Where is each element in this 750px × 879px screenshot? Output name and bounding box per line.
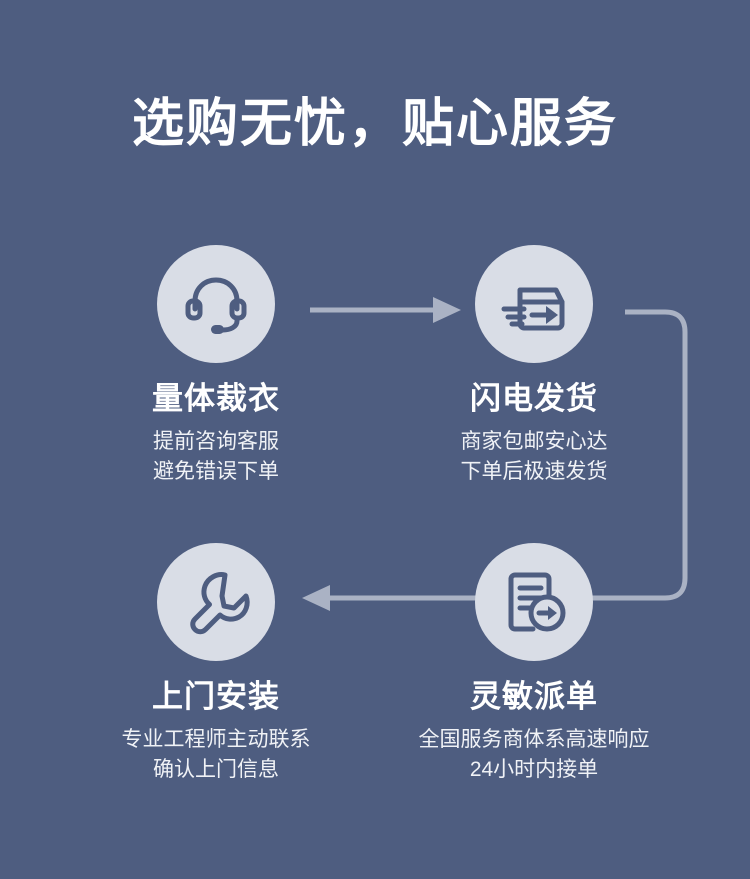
- step-3-description: 专业工程师主动联系 确认上门信息: [86, 725, 346, 786]
- step-1-description: 提前咨询客服 避免错误下单: [86, 427, 346, 488]
- step-4[interactable]: 灵敏派单 全国服务商体系高速响应 24小时内接单: [404, 543, 664, 786]
- step-3-desc-line-1: 专业工程师主动联系: [86, 725, 346, 755]
- step-4-desc-line-1: 全国服务商体系高速响应: [404, 725, 664, 755]
- step-4-icon-circle: [475, 543, 593, 661]
- step-1[interactable]: 量体裁衣 提前咨询客服 避免错误下单: [86, 245, 346, 488]
- headset-icon: [181, 269, 251, 339]
- step-4-description: 全国服务商体系高速响应 24小时内接单: [404, 725, 664, 786]
- step-4-title: 灵敏派单: [404, 679, 664, 715]
- step-2-description: 商家包邮安心达 下单后极速发货: [404, 427, 664, 488]
- step-2-desc-line-1: 商家包邮安心达: [404, 427, 664, 457]
- step-1-desc-line-1: 提前咨询客服: [86, 427, 346, 457]
- wrench-icon: [181, 567, 251, 637]
- step-1-title: 量体裁衣: [86, 381, 346, 417]
- fast-shipping-box-icon: [498, 268, 570, 340]
- step-4-desc-line-2: 24小时内接单: [404, 755, 664, 785]
- step-3-desc-line-2: 确认上门信息: [86, 755, 346, 785]
- step-2-icon-circle: [475, 245, 593, 363]
- step-2[interactable]: 闪电发货 商家包邮安心达 下单后极速发货: [404, 245, 664, 488]
- step-1-desc-line-2: 避免错误下单: [86, 457, 346, 487]
- step-2-desc-line-2: 下单后极速发货: [404, 457, 664, 487]
- step-1-icon-circle: [157, 245, 275, 363]
- service-flow-infographic: 选购无忧，贴心服务: [0, 0, 750, 879]
- step-3[interactable]: 上门安装 专业工程师主动联系 确认上门信息: [86, 543, 346, 786]
- step-2-title: 闪电发货: [404, 381, 664, 417]
- step-3-title: 上门安装: [86, 679, 346, 715]
- step-3-icon-circle: [157, 543, 275, 661]
- dispatch-document-icon: [499, 567, 569, 637]
- page-title: 选购无忧，贴心服务: [0, 96, 750, 153]
